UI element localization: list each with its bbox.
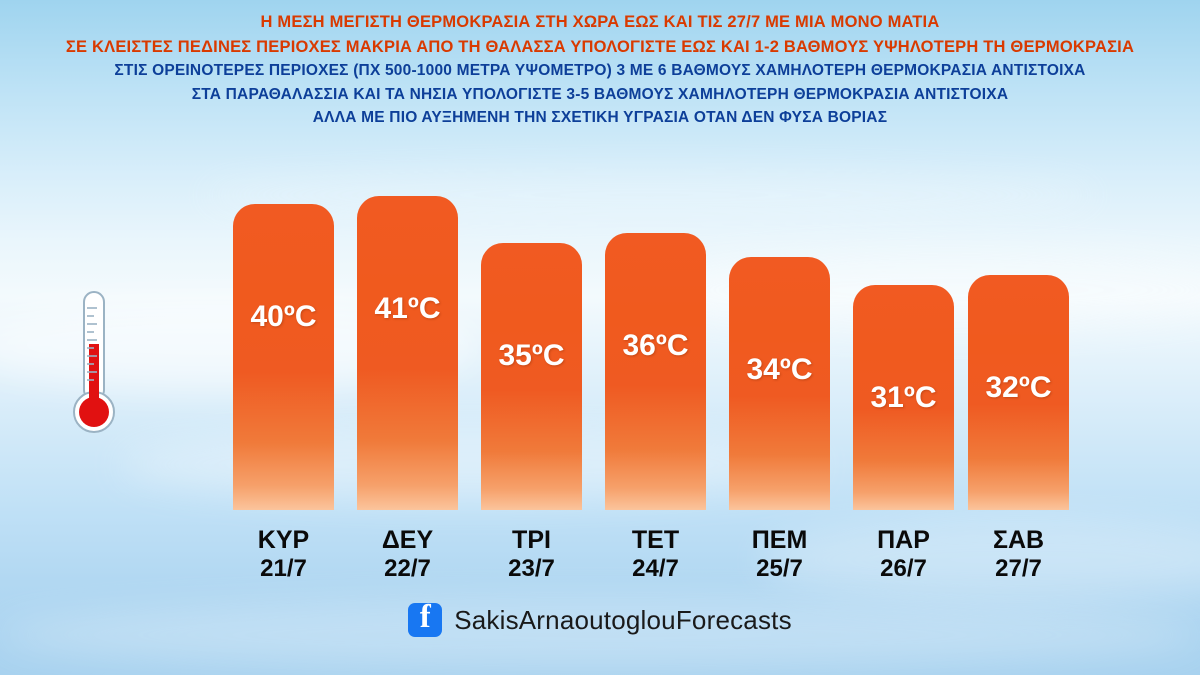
day-date: 22/7 bbox=[357, 555, 458, 583]
thermometer-icon bbox=[70, 288, 118, 448]
bar-value-label: 40ºC bbox=[233, 300, 334, 334]
bar-day-label: ΔΕΥ22/7 bbox=[357, 526, 458, 582]
headline-line-1: Η ΜΕΣΗ ΜΕΓΙΣΤΗ ΘΕΡΜΟΚΡΑΣΙΑ ΣΤΗ ΧΩΡΑ ΕΩΣ … bbox=[0, 10, 1200, 35]
bar-value-label: 35ºC bbox=[481, 339, 582, 373]
headline-line-4: ΣΤΑ ΠΑΡΑΘΑΛΑΣΣΙΑ ΚΑΙ ΤΑ ΝΗΣΙΑ ΥΠΟΛΟΓΙΣΤΕ… bbox=[0, 83, 1200, 107]
bar-day-label: ΠΕΜ25/7 bbox=[729, 526, 830, 582]
day-date: 26/7 bbox=[853, 555, 954, 583]
headline-line-5: ΑΛΛΑ ΜΕ ΠΙΟ ΑΥΞΗΜΕΝΗ ΤΗΝ ΣΧΕΤΙΚΗ ΥΓΡΑΣΙΑ… bbox=[0, 106, 1200, 130]
headline-line-3: ΣΤΙΣ ΟΡΕΙΝΟΤΕΡΕΣ ΠΕΡΙΟΧΕΣ (ΠΧ 500-1000 Μ… bbox=[0, 59, 1200, 83]
day-name: ΣΑΒ bbox=[993, 526, 1044, 554]
bar-value-label: 34ºC bbox=[729, 353, 830, 387]
day-name: ΠΕΜ bbox=[752, 526, 808, 554]
day-name: ΚΥΡ bbox=[258, 526, 309, 554]
temperature-bar[interactable] bbox=[233, 204, 334, 510]
headline-block: Η ΜΕΣΗ ΜΕΓΙΣΤΗ ΘΕΡΜΟΚΡΑΣΙΑ ΣΤΗ ΧΩΡΑ ΕΩΣ … bbox=[0, 10, 1200, 130]
headline-line-2: ΣΕ ΚΛΕΙΣΤΕΣ ΠΕΔΙΝΕΣ ΠΕΡΙΟΧΕΣ ΜΑΚΡΙΑ ΑΠΟ … bbox=[0, 35, 1200, 60]
facebook-icon[interactable] bbox=[408, 603, 442, 637]
day-date: 27/7 bbox=[968, 555, 1069, 583]
day-date: 23/7 bbox=[481, 555, 582, 583]
bar-day-label: ΠΑΡ26/7 bbox=[853, 526, 954, 582]
day-name: ΠΑΡ bbox=[877, 526, 930, 554]
bar-value-label: 32ºC bbox=[968, 371, 1069, 405]
bar-day-label: ΤΕΤ24/7 bbox=[605, 526, 706, 582]
temperature-bar[interactable] bbox=[357, 196, 458, 510]
bar-day-label: ΣΑΒ27/7 bbox=[968, 526, 1069, 582]
bar-value-label: 41ºC bbox=[357, 292, 458, 326]
temperature-bar[interactable] bbox=[605, 233, 706, 510]
day-name: ΔΕΥ bbox=[382, 526, 433, 554]
temperature-bar[interactable] bbox=[481, 243, 582, 510]
day-name: ΤΡΙ bbox=[512, 526, 551, 554]
day-date: 24/7 bbox=[605, 555, 706, 583]
footer-credit: SakisArnaoutoglouForecasts bbox=[0, 603, 1200, 637]
bar-value-label: 36ºC bbox=[605, 329, 706, 363]
bar-day-label: ΚΥΡ21/7 bbox=[233, 526, 334, 582]
day-date: 21/7 bbox=[233, 555, 334, 583]
bar-day-label: ΤΡΙ23/7 bbox=[481, 526, 582, 582]
facebook-page-name: SakisArnaoutoglouForecasts bbox=[454, 605, 792, 636]
bar-value-label: 31ºC bbox=[853, 381, 954, 415]
day-name: ΤΕΤ bbox=[632, 526, 679, 554]
day-date: 25/7 bbox=[729, 555, 830, 583]
